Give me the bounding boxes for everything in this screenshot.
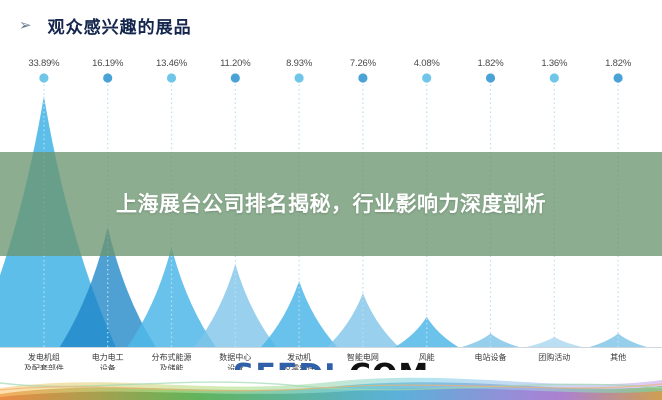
overlay-title-band: 上海展台公司排名揭秘，行业影响力深度剖析: [0, 152, 662, 256]
data-point-dot-3: [167, 73, 176, 82]
value-label-7: 4.08%: [414, 58, 440, 69]
value-label-2: 16.19%: [92, 58, 123, 69]
data-point-dot-4: [231, 73, 240, 82]
overlay-title-text: 上海展台公司排名揭秘，行业影响力深度剖析: [36, 187, 626, 221]
value-label-1: 33.89%: [28, 58, 59, 69]
value-label-6: 7.26%: [350, 58, 376, 69]
data-point-dot-1: [39, 73, 48, 82]
value-label-10: 1.82%: [605, 58, 631, 69]
chart-screenshot: ➢ 观众感兴趣的展品 33.89%16.19%13.46%11.20%8.93%…: [0, 0, 662, 400]
data-point-dot-5: [295, 73, 304, 82]
value-label-8: 1.82%: [478, 58, 504, 69]
data-point-dot-9: [550, 73, 559, 82]
decorative-ribbon: [0, 370, 662, 400]
data-point-dot-6: [358, 73, 367, 82]
value-label-3: 13.46%: [156, 58, 187, 69]
data-point-dot-10: [614, 73, 623, 82]
data-point-dot-7: [422, 73, 431, 82]
ribbon-svg: [0, 370, 662, 400]
data-point-dot-8: [486, 73, 495, 82]
cone-8: [462, 334, 519, 347]
value-label-4: 11.20%: [220, 58, 250, 69]
value-label-5: 8.93%: [286, 58, 312, 69]
value-label-9: 1.36%: [541, 58, 567, 69]
data-point-dot-2: [103, 73, 112, 82]
cone-10: [590, 334, 647, 347]
